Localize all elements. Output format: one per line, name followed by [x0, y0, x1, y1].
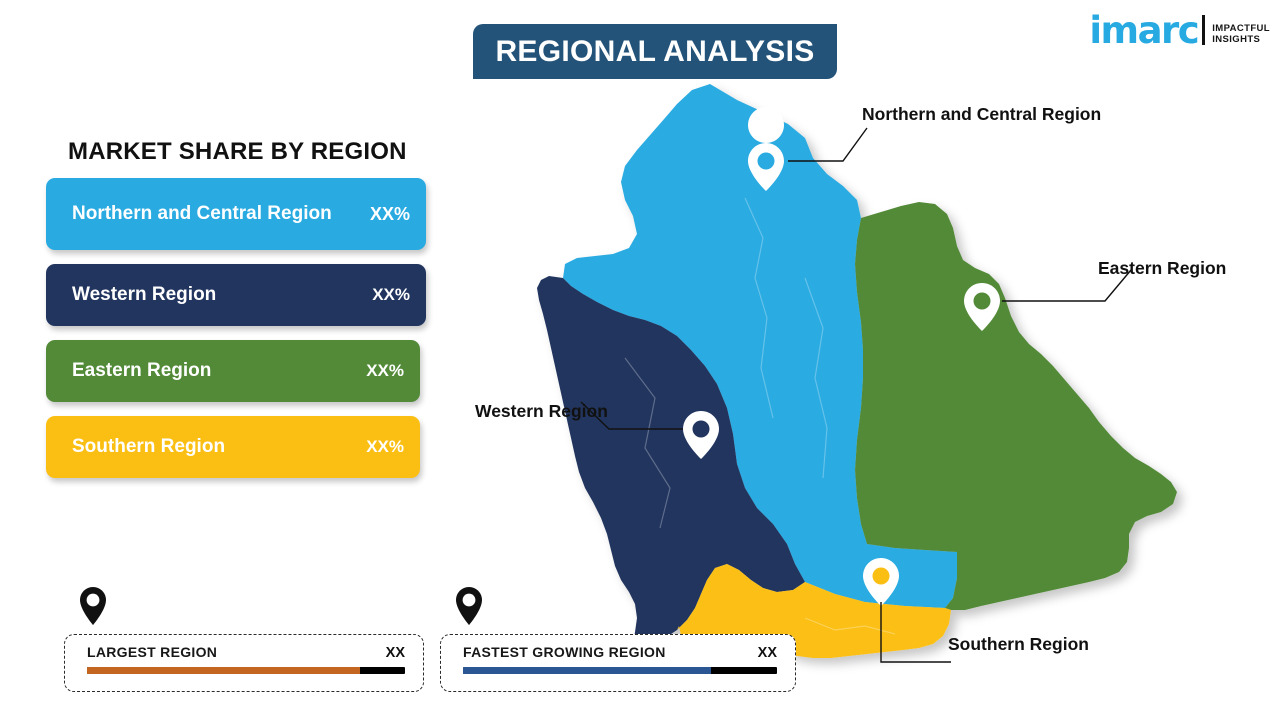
map-callout-northern-and-central: Northern and Central Region [862, 104, 1101, 125]
legend-item-northern-and-central[interactable]: Northern and Central Region XX% [46, 178, 426, 250]
largest-region-label: LARGEST REGION [87, 644, 217, 660]
location-pin-icon [78, 586, 108, 626]
fastest-growing-region-value: XX [758, 645, 777, 661]
fastest-growing-region-card[interactable]: FASTEST GROWING REGION XX [440, 634, 796, 692]
imarc-logo: imarc IMPACTFUL INSIGHTS [1089, 14, 1270, 48]
legend-value: XX% [366, 361, 404, 381]
logo-tagline-line1: IMPACTFUL [1212, 23, 1270, 34]
page-title: REGIONAL ANALYSIS [495, 35, 814, 69]
legend-value: XX% [372, 285, 410, 305]
logo-wordmark: imarc [1089, 14, 1198, 48]
market-share-heading: MARKET SHARE BY REGION [68, 138, 407, 166]
map-callout-eastern: Eastern Region [1098, 258, 1226, 279]
largest-region-progress-track [87, 667, 405, 674]
map-callout-southern: Southern Region [948, 634, 1089, 655]
location-pin-icon [454, 586, 484, 626]
logo-divider [1202, 15, 1205, 45]
largest-region-value: XX [386, 645, 405, 661]
region-share-legend: Northern and Central Region XX% Western … [46, 178, 436, 492]
map-callout-western: Western Region [475, 401, 608, 422]
fastest-growing-region-progress-fill [463, 667, 711, 674]
legend-label: Southern Region [72, 436, 366, 459]
legend-item-eastern[interactable]: Eastern Region XX% [46, 340, 420, 402]
largest-region-progress-fill [87, 667, 360, 674]
logo-tagline: IMPACTFUL INSIGHTS [1212, 23, 1270, 45]
page-title-banner: REGIONAL ANALYSIS [473, 24, 837, 79]
largest-region-card[interactable]: LARGEST REGION XX [64, 634, 424, 692]
infographic-canvas: REGIONAL ANALYSIS imarc IMPACTFUL INSIGH… [0, 0, 1280, 720]
legend-value: XX% [366, 437, 404, 457]
legend-label: Northern and Central Region [72, 203, 370, 226]
fastest-growing-region-label: FASTEST GROWING REGION [463, 644, 666, 660]
saudi-arabia-region-map [505, 78, 1225, 658]
fastest-growing-region-progress-track [463, 667, 777, 674]
legend-value: XX% [370, 204, 410, 225]
legend-label: Western Region [72, 284, 372, 307]
logo-tagline-line2: INSIGHTS [1212, 34, 1270, 45]
legend-label: Eastern Region [72, 360, 366, 383]
legend-item-southern[interactable]: Southern Region XX% [46, 416, 420, 478]
legend-item-western[interactable]: Western Region XX% [46, 264, 426, 326]
